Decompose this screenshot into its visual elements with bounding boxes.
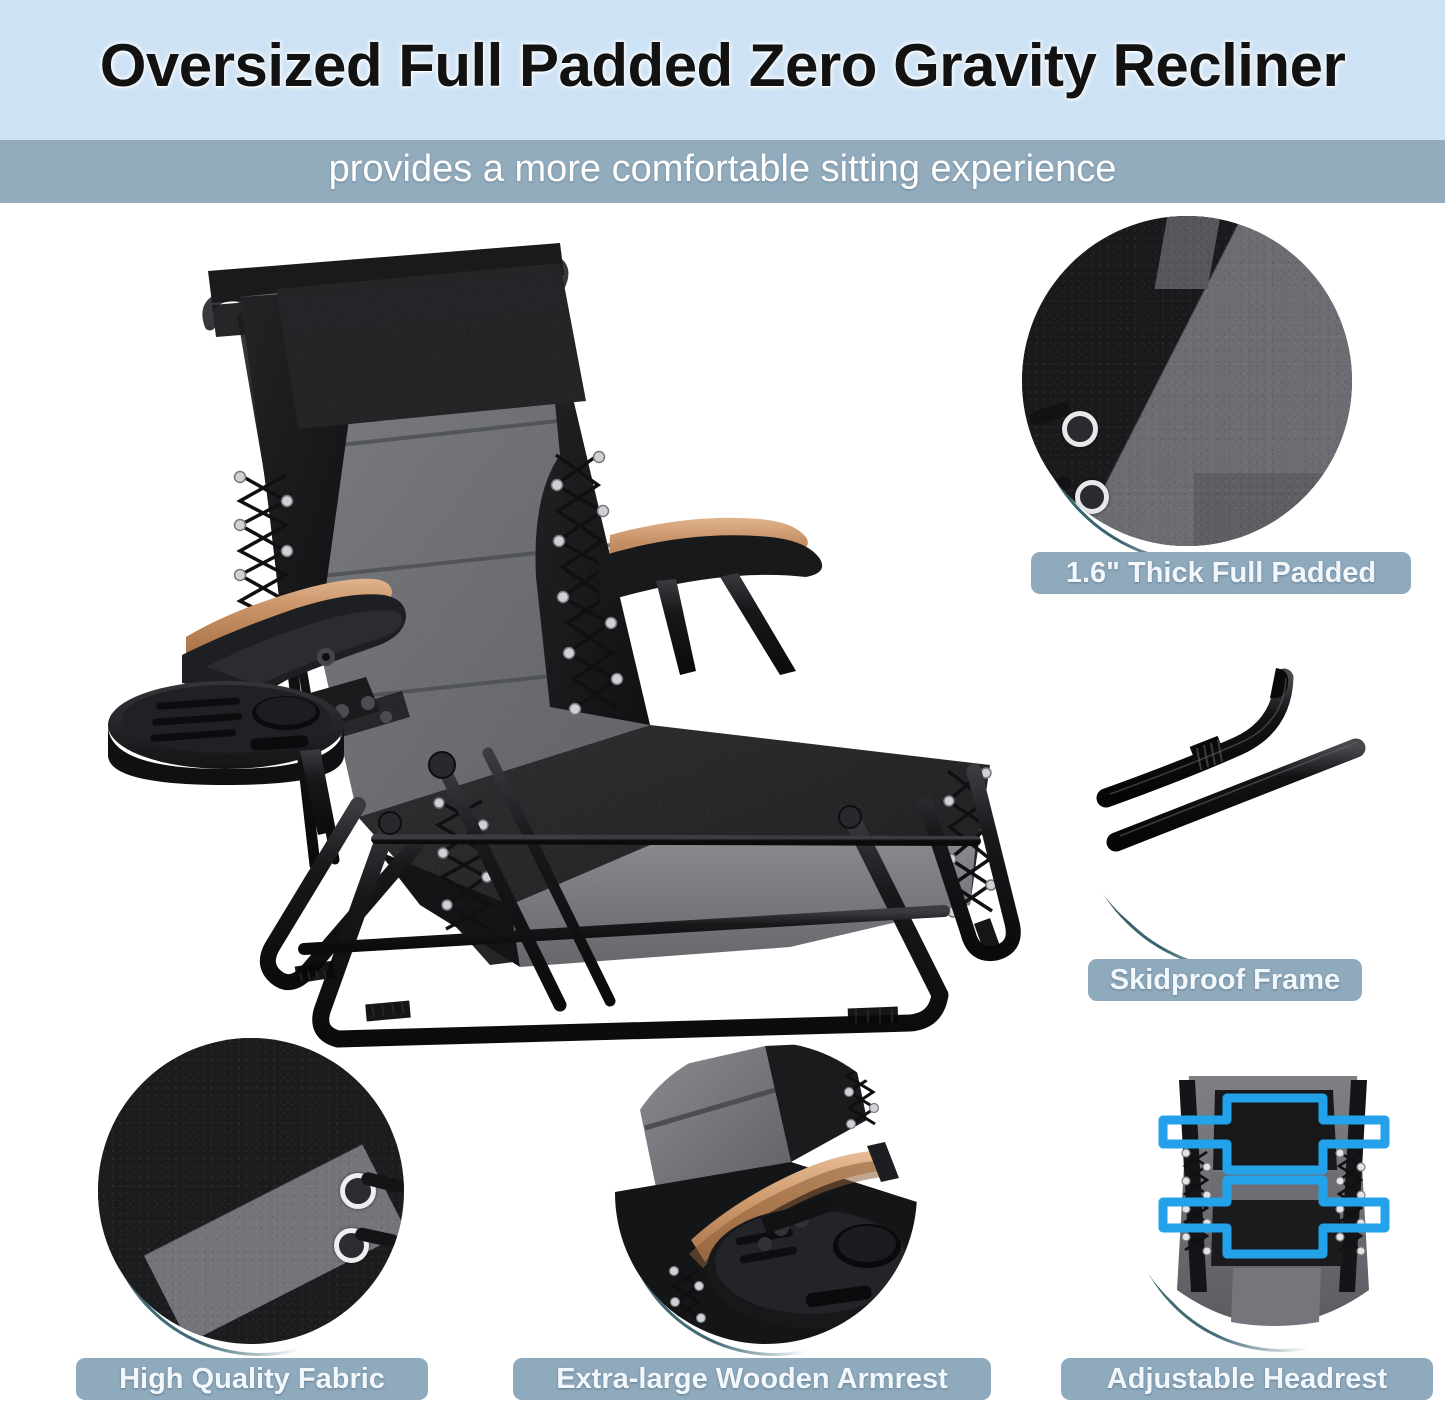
- feature-label-skidproof-frame: Skidproof Frame: [1088, 959, 1362, 1001]
- feature-label-adjustable-headrest: Adjustable Headrest: [1061, 1358, 1433, 1400]
- cup-holder-tray: [707, 1208, 915, 1328]
- header-title-band: Oversized Full Padded Zero Gravity Recli…: [0, 0, 1445, 140]
- frame-tube-straight: [1116, 748, 1356, 842]
- page-title: Oversized Full Padded Zero Gravity Recli…: [0, 31, 1445, 100]
- feature-image-wooden-armrest: [615, 1042, 917, 1344]
- feature-label-high-quality-fabric: High Quality Fabric: [76, 1358, 428, 1400]
- feature-label-wooden-armrest: Extra-large Wooden Armrest: [513, 1358, 991, 1400]
- main-product-image: [90, 205, 1090, 1055]
- feature-label-thick-padded: 1.6" Thick Full Padded: [1031, 552, 1411, 594]
- feature-image-skidproof-frame: [1070, 630, 1400, 960]
- infographic-canvas: Oversized Full Padded Zero Gravity Recli…: [0, 0, 1445, 1403]
- feature-image-adjustable-headrest: [1123, 1040, 1423, 1340]
- feature-image-high-quality-fabric: [98, 1038, 404, 1344]
- headrest-pillow: [276, 263, 586, 429]
- header-subtitle-band: provides a more comfortable sitting expe…: [0, 140, 1445, 203]
- page-subtitle: provides a more comfortable sitting expe…: [0, 148, 1445, 191]
- feature-image-thick-padded: [1022, 216, 1352, 546]
